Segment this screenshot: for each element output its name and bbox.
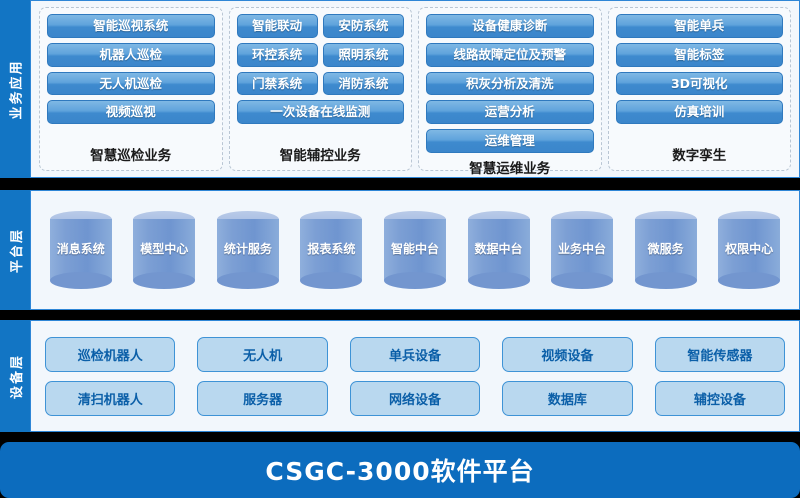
chip-item[interactable]: 3D可视化 xyxy=(616,72,784,96)
layer-tab-platform: 平台层 xyxy=(0,190,30,310)
cylinder-bottom-icon xyxy=(384,272,446,289)
cylinder-label: 微服务 xyxy=(635,243,697,257)
device-item[interactable]: 数据库 xyxy=(502,381,632,416)
device-item[interactable]: 单兵设备 xyxy=(350,337,480,372)
chip-item[interactable]: 智能巡视系统 xyxy=(47,14,215,38)
device-item[interactable]: 视频设备 xyxy=(502,337,632,372)
group-smart-operation-maintenance: 设备健康诊断 线路故障定位及预警 积灰分析及清洗 运营分析 运维管理 智慧运维业… xyxy=(418,7,602,171)
cylinder-label: 业务中台 xyxy=(551,243,613,257)
chip-item[interactable]: 环控系统 xyxy=(237,43,318,67)
layer-divider xyxy=(0,178,800,190)
layer-tab-label: 设备层 xyxy=(6,353,25,398)
platform-body: 消息系统 模型中心 统计服务 报表系统 xyxy=(30,190,800,310)
cylinder-bottom-icon xyxy=(551,272,613,289)
cylinder-bottom-icon xyxy=(718,272,780,289)
chip-item[interactable]: 仿真培训 xyxy=(616,100,784,124)
group-items: 设备健康诊断 线路故障定位及预警 积灰分析及清洗 运营分析 运维管理 xyxy=(426,14,594,153)
layer-tab-label: 业务应用 xyxy=(6,59,25,119)
device-item[interactable]: 巡检机器人 xyxy=(45,337,175,372)
layer-tab-business-application: 业务应用 xyxy=(0,0,30,178)
business-application-body: 智能巡视系统 机器人巡检 无人机巡检 视频巡视 智慧巡检业务 智能联动 安防系统… xyxy=(30,0,800,178)
group-title: 数字孪生 xyxy=(616,140,784,167)
layer-tab-label: 平台层 xyxy=(6,227,25,272)
cylinder-bottom-icon xyxy=(133,272,195,289)
cylinder-node[interactable]: 模型中心 xyxy=(133,211,195,289)
layer-platform: 平台层 消息系统 模型中心 统计服务 xyxy=(0,190,800,310)
cylinder-label: 智能中台 xyxy=(384,243,446,257)
cylinder-node[interactable]: 报表系统 xyxy=(300,211,362,289)
device-item[interactable]: 服务器 xyxy=(197,381,327,416)
cylinder-bottom-icon xyxy=(50,272,112,289)
cylinder-bottom-icon xyxy=(468,272,530,289)
cylinder-bottom-icon xyxy=(217,272,279,289)
cylinder-node[interactable]: 统计服务 xyxy=(217,211,279,289)
chip-item[interactable]: 线路故障定位及预警 xyxy=(426,43,594,67)
group-intelligent-auxiliary-control: 智能联动 安防系统 环控系统 照明系统 门禁系统 消防系统 一次设备在线监测 智… xyxy=(229,7,413,171)
layer-business-application: 业务应用 智能巡视系统 机器人巡检 无人机巡检 视频巡视 智慧巡检业务 智能联动… xyxy=(0,0,800,178)
cylinder-node[interactable]: 数据中台 xyxy=(468,211,530,289)
device-item[interactable]: 辅控设备 xyxy=(655,381,785,416)
chip-item[interactable]: 机器人巡检 xyxy=(47,43,215,67)
device-item[interactable]: 无人机 xyxy=(197,337,327,372)
architecture-diagram: 业务应用 智能巡视系统 机器人巡检 无人机巡检 视频巡视 智慧巡检业务 智能联动… xyxy=(0,0,800,486)
device-item[interactable]: 网络设备 xyxy=(350,381,480,416)
cylinder-label: 消息系统 xyxy=(50,243,112,257)
chip-item[interactable]: 安防系统 xyxy=(323,14,404,38)
chip-item[interactable]: 运营分析 xyxy=(426,100,594,124)
cylinder-node[interactable]: 微服务 xyxy=(635,211,697,289)
cylinder-label: 权限中心 xyxy=(718,243,780,257)
chip-item[interactable]: 无人机巡检 xyxy=(47,72,215,96)
cylinder-label: 统计服务 xyxy=(217,243,279,257)
layer-device: 设备层 巡检机器人 无人机 单兵设备 视频设备 智能传感器 清扫机器人 服务器 … xyxy=(0,320,800,432)
device-body: 巡检机器人 无人机 单兵设备 视频设备 智能传感器 清扫机器人 服务器 网络设备… xyxy=(30,320,800,432)
chip-item[interactable]: 智能单兵 xyxy=(616,14,784,38)
cylinder-bottom-icon xyxy=(300,272,362,289)
cylinder-label: 报表系统 xyxy=(300,243,362,257)
group-items: 智能联动 安防系统 环控系统 照明系统 门禁系统 消防系统 一次设备在线监测 xyxy=(237,14,405,124)
chip-item[interactable]: 智能联动 xyxy=(237,14,318,38)
platform-banner[interactable]: CSGC-3000软件平台 xyxy=(0,442,800,498)
chip-item[interactable]: 智能标签 xyxy=(616,43,784,67)
device-item[interactable]: 清扫机器人 xyxy=(45,381,175,416)
chip-item[interactable]: 照明系统 xyxy=(323,43,404,67)
device-row: 清扫机器人 服务器 网络设备 数据库 辅控设备 xyxy=(45,381,785,416)
group-title: 智慧运维业务 xyxy=(426,153,594,180)
chip-item[interactable]: 设备健康诊断 xyxy=(426,14,594,38)
chip-item[interactable]: 一次设备在线监测 xyxy=(237,100,405,124)
chip-item[interactable]: 运维管理 xyxy=(426,129,594,153)
layer-divider xyxy=(0,310,800,320)
cylinder-node[interactable]: 消息系统 xyxy=(50,211,112,289)
group-items: 智能巡视系统 机器人巡检 无人机巡检 视频巡视 xyxy=(47,14,215,124)
layer-tab-device: 设备层 xyxy=(0,320,30,432)
chip-item[interactable]: 门禁系统 xyxy=(237,72,318,96)
cylinder-node[interactable]: 业务中台 xyxy=(551,211,613,289)
group-title: 智能辅控业务 xyxy=(237,140,405,167)
cylinder-node[interactable]: 权限中心 xyxy=(718,211,780,289)
chip-item[interactable]: 视频巡视 xyxy=(47,100,215,124)
group-smart-inspection: 智能巡视系统 机器人巡检 无人机巡检 视频巡视 智慧巡检业务 xyxy=(39,7,223,171)
chip-item[interactable]: 积灰分析及清洗 xyxy=(426,72,594,96)
device-item[interactable]: 智能传感器 xyxy=(655,337,785,372)
cylinder-bottom-icon xyxy=(635,272,697,289)
device-row: 巡检机器人 无人机 单兵设备 视频设备 智能传感器 xyxy=(45,337,785,372)
group-items: 智能单兵 智能标签 3D可视化 仿真培训 xyxy=(616,14,784,124)
chip-item[interactable]: 消防系统 xyxy=(323,72,404,96)
cylinder-label: 数据中台 xyxy=(468,243,530,257)
cylinder-label: 模型中心 xyxy=(133,243,195,257)
group-digital-twin: 智能单兵 智能标签 3D可视化 仿真培训 数字孪生 xyxy=(608,7,792,171)
platform-banner-title: CSGC-3000软件平台 xyxy=(265,452,534,488)
cylinder-node[interactable]: 智能中台 xyxy=(384,211,446,289)
group-title: 智慧巡检业务 xyxy=(47,140,215,167)
